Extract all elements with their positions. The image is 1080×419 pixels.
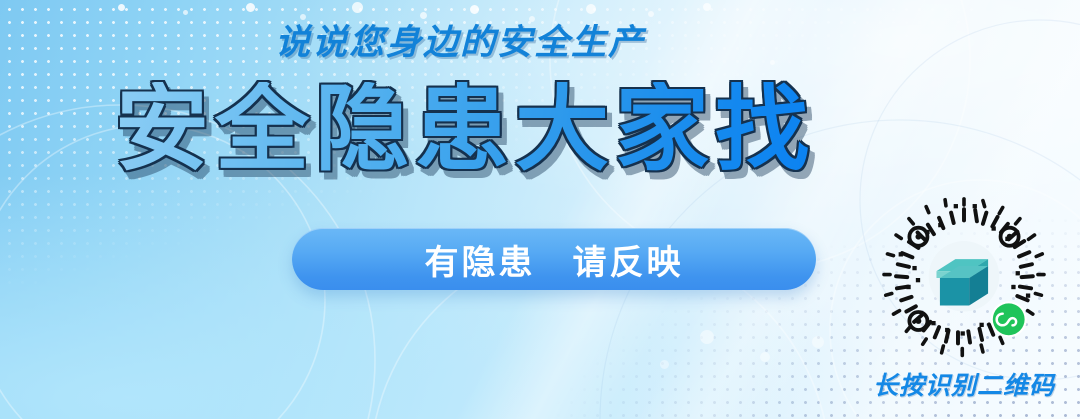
qr-code-block: 长按识别二维码: [866, 192, 1062, 402]
safety-hazard-banner: 说说您身边的安全生产 安全隐患大家找 有隐患 请反映: [0, 0, 1080, 419]
qr-code-caption: 长按识别二维码: [866, 366, 1062, 402]
report-hazard-button-label: 有隐患 请反映: [425, 235, 684, 284]
qr-center-logo: [929, 241, 1000, 312]
wechat-miniprogram-badge-icon: [991, 301, 1027, 337]
report-hazard-button[interactable]: 有隐患 请反映: [292, 228, 816, 290]
banner-headline: 安全隐患大家找: [0, 82, 1080, 176]
banner-headline-text: 安全隐患大家找: [115, 82, 815, 176]
banner-content: 说说您身边的安全生产 安全隐患大家找 有隐患 请反映: [0, 0, 1080, 419]
wechat-miniprogram-qr-icon[interactable]: [878, 192, 1050, 364]
banner-subtitle: 说说您身边的安全生产: [0, 25, 1080, 60]
